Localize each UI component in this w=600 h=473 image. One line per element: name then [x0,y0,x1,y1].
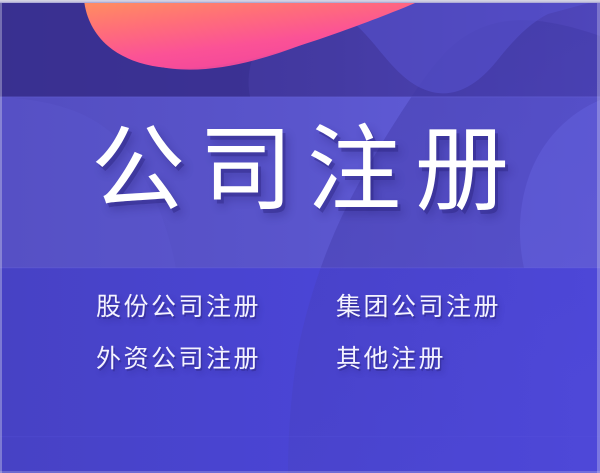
service-item-shareholding-company-registration[interactable]: 股份公司注册 [96,293,336,345]
banner-content: 公司注册 股份公司注册 集团公司注册 外资公司注册 其他注册 [0,0,600,473]
service-item-group-company-registration[interactable]: 集团公司注册 [336,293,526,345]
service-item-other-registration[interactable]: 其他注册 [336,345,526,397]
top-edge-highlight [0,0,600,3]
banner-title: 公司注册 [0,122,600,221]
service-list: 股份公司注册 集团公司注册 外资公司注册 其他注册 [96,293,526,397]
company-registration-banner: 公司注册 股份公司注册 集团公司注册 外资公司注册 其他注册 [0,0,600,473]
service-item-foreign-invested-company-registration[interactable]: 外资公司注册 [96,345,336,397]
left-edge-highlight [0,0,2,473]
